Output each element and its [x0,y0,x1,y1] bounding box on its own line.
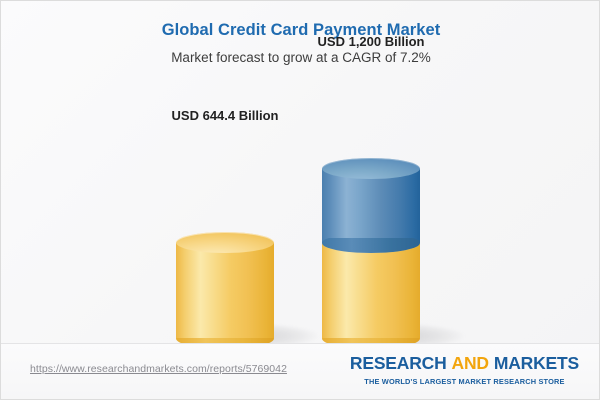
cylinder-2032[interactable] [322,158,420,342]
logo-word-and: AND [452,353,489,373]
bar-group-2032[interactable]: USD 1,200 Billion [251,36,491,346]
chart-plot-area: USD 644.4 Billion 2023 USD 1,200 Billion [1,1,600,346]
logo-word-research: RESEARCH [350,353,447,373]
research-and-markets-logo[interactable]: RESEARCHANDMARKETS THE WORLD'S LARGEST M… [350,355,579,386]
logo-tagline: THE WORLD'S LARGEST MARKET RESEARCH STOR… [350,377,579,386]
value-label-2032: USD 1,200 Billion [251,34,491,49]
footer: https://www.researchandmarkets.com/repor… [1,343,600,399]
cylinder-top-ellipse-2032 [322,158,420,179]
logo-word-markets: MARKETS [494,353,579,373]
logo-wordmark: RESEARCHANDMARKETS [350,355,579,373]
cylinder-segment-base-2032 [322,243,420,338]
report-url-link[interactable]: https://www.researchandmarkets.com/repor… [30,363,287,375]
infographic-card: Global Credit Card Payment Market Market… [0,0,600,400]
